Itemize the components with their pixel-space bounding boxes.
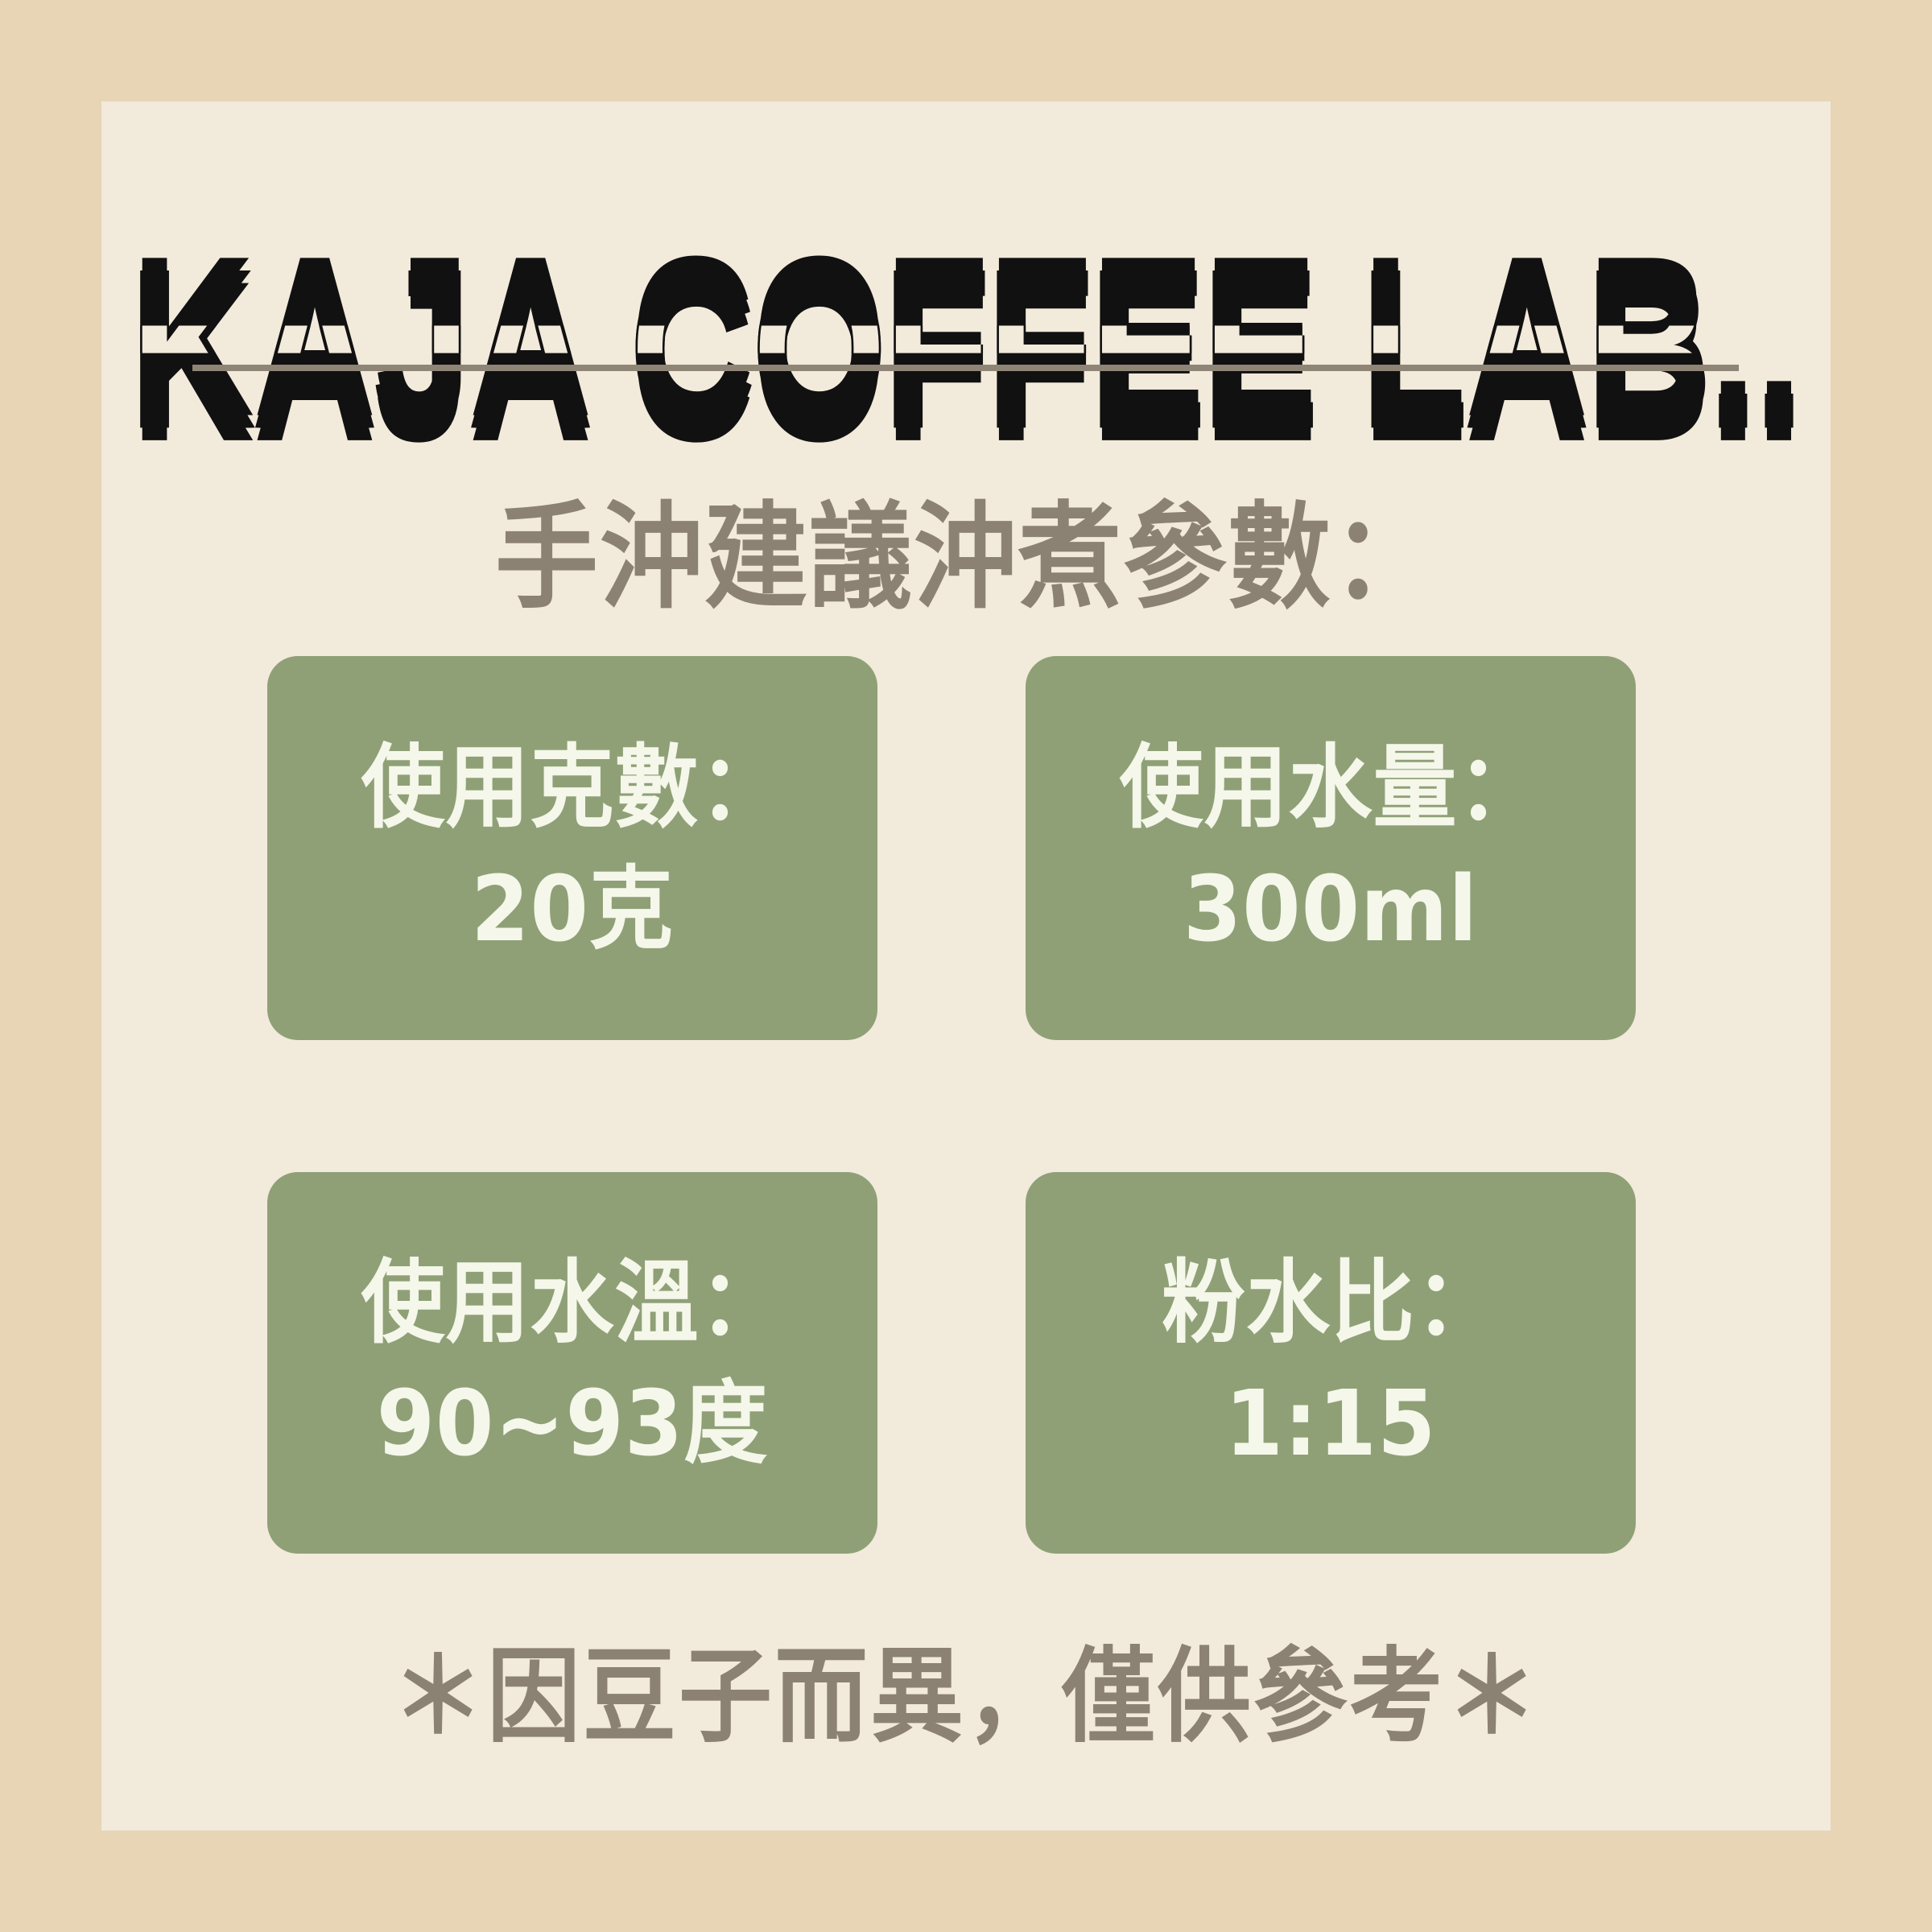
page-title: KAJA COFFEE LAB.. KAJA COFFEE LAB.. (130, 234, 1801, 463)
card-inner: 使用水溫： 90~93度 (303, 1260, 842, 1466)
card-value-ratio: 1:15 (1225, 1377, 1437, 1470)
card-value-water-volume: 300ml (1183, 862, 1478, 955)
card-inner: 使用水量： 300ml (1061, 745, 1600, 951)
card-label-water-temperature: 使用水溫： (361, 1257, 783, 1349)
parameter-grid: 使用克數： 20克 使用水量： 300ml 使用水溫： 90~93度 粉水比： (267, 656, 1636, 1554)
card-value-dose: 20克 (471, 862, 674, 955)
content-panel: KAJA COFFEE LAB.. KAJA COFFEE LAB.. 手沖建議… (101, 101, 1831, 1831)
poster-root: KAJA COFFEE LAB.. KAJA COFFEE LAB.. 手沖建議… (0, 0, 1932, 1932)
parameter-card-dose: 使用克數： 20克 (267, 656, 877, 1040)
card-inner: 使用克數： 20克 (303, 745, 842, 951)
footnote-disclaimer: ＊因豆子而異，僅供參考＊ (101, 1646, 1831, 1749)
card-value-water-temperature: 90~93度 (377, 1377, 769, 1470)
header-divider (192, 365, 1739, 371)
title-wrap: KAJA COFFEE LAB.. KAJA COFFEE LAB.. (101, 234, 1831, 407)
card-label-dose: 使用克數： (361, 741, 783, 834)
card-inner: 粉水比： 1:15 (1061, 1260, 1600, 1466)
card-label-water-volume: 使用水量： (1119, 741, 1542, 834)
title-layer: KAJA COFFEE LAB.. KAJA COFFEE LAB.. (130, 234, 1801, 463)
parameter-card-water-temperature: 使用水溫： 90~93度 (267, 1172, 877, 1554)
parameter-card-ratio: 粉水比： 1:15 (1026, 1172, 1636, 1554)
parameter-card-water-volume: 使用水量： 300ml (1026, 656, 1636, 1040)
card-label-ratio: 粉水比： (1162, 1257, 1500, 1349)
subtitle: 手沖建議沖煮參數： (101, 501, 1831, 616)
